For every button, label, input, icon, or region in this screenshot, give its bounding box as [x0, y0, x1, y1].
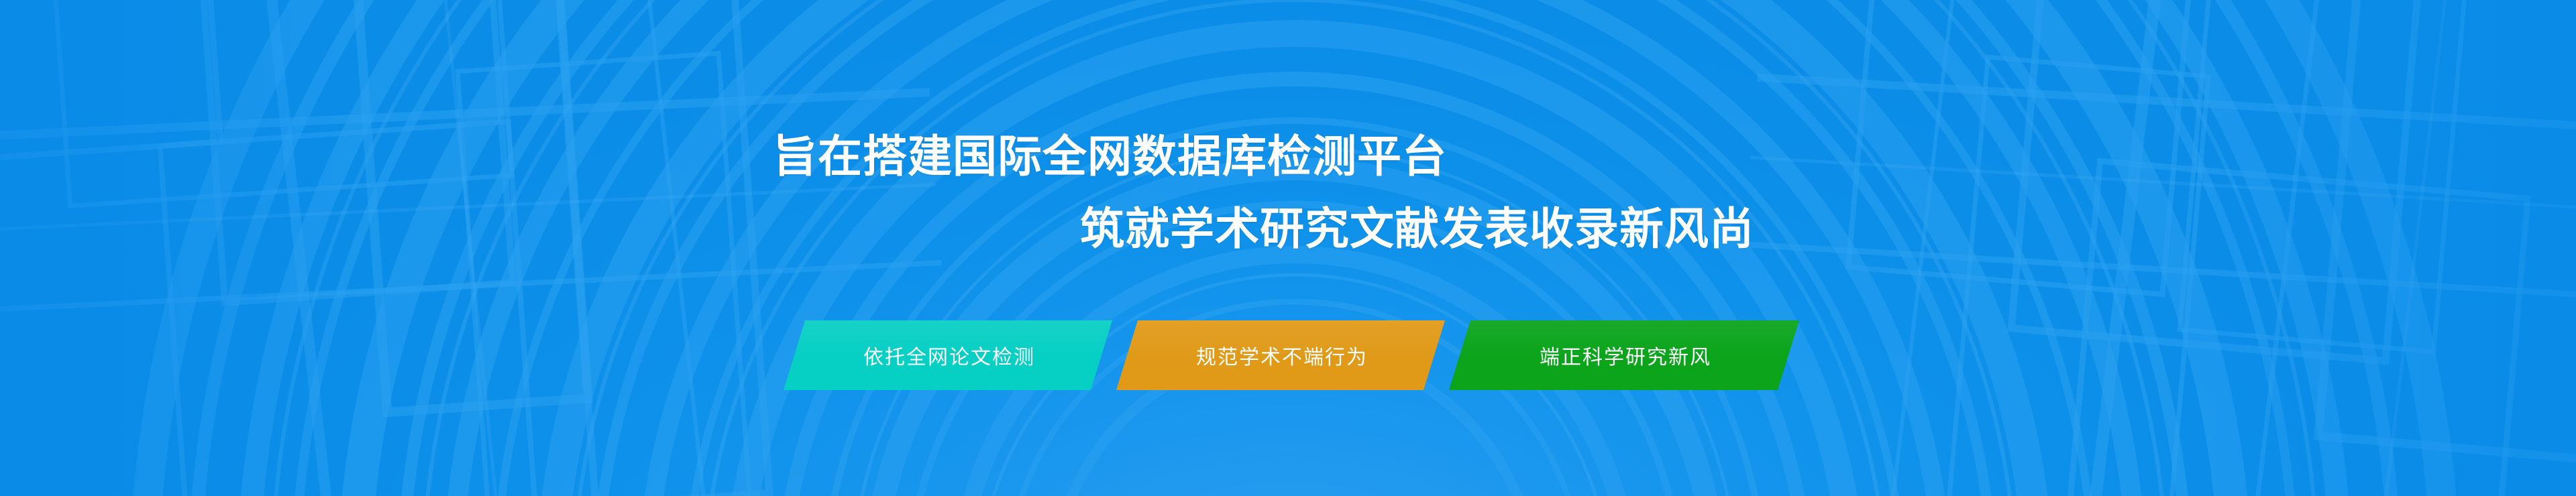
feature-tag-plagiarism-detection[interactable]: 依托全网论文检测	[784, 320, 1112, 390]
feature-tag-research-integrity[interactable]: 端正科学研究新风	[1449, 320, 1799, 390]
feature-tag-label: 依托全网论文检测	[863, 340, 1035, 370]
feature-tag-strip: 依托全网论文检测 规范学术不端行为 端正科学研究新风	[0, 320, 2576, 390]
feature-tag-label: 端正科学研究新风	[1540, 340, 1711, 370]
feature-tag-label: 规范学术不端行为	[1196, 340, 1368, 370]
promo-banner: 旨在搭建国际全网数据库检测平台 筑就学术研究文献发表收录新风尚 依托全网论文检测…	[0, 0, 2576, 496]
feature-tag-academic-misconduct[interactable]: 规范学术不端行为	[1116, 320, 1445, 390]
headline-line-1: 旨在搭建国际全网数据库检测平台	[773, 134, 1447, 178]
headline-line-2: 筑就学术研究文献发表收录新风尚	[1080, 206, 1754, 251]
